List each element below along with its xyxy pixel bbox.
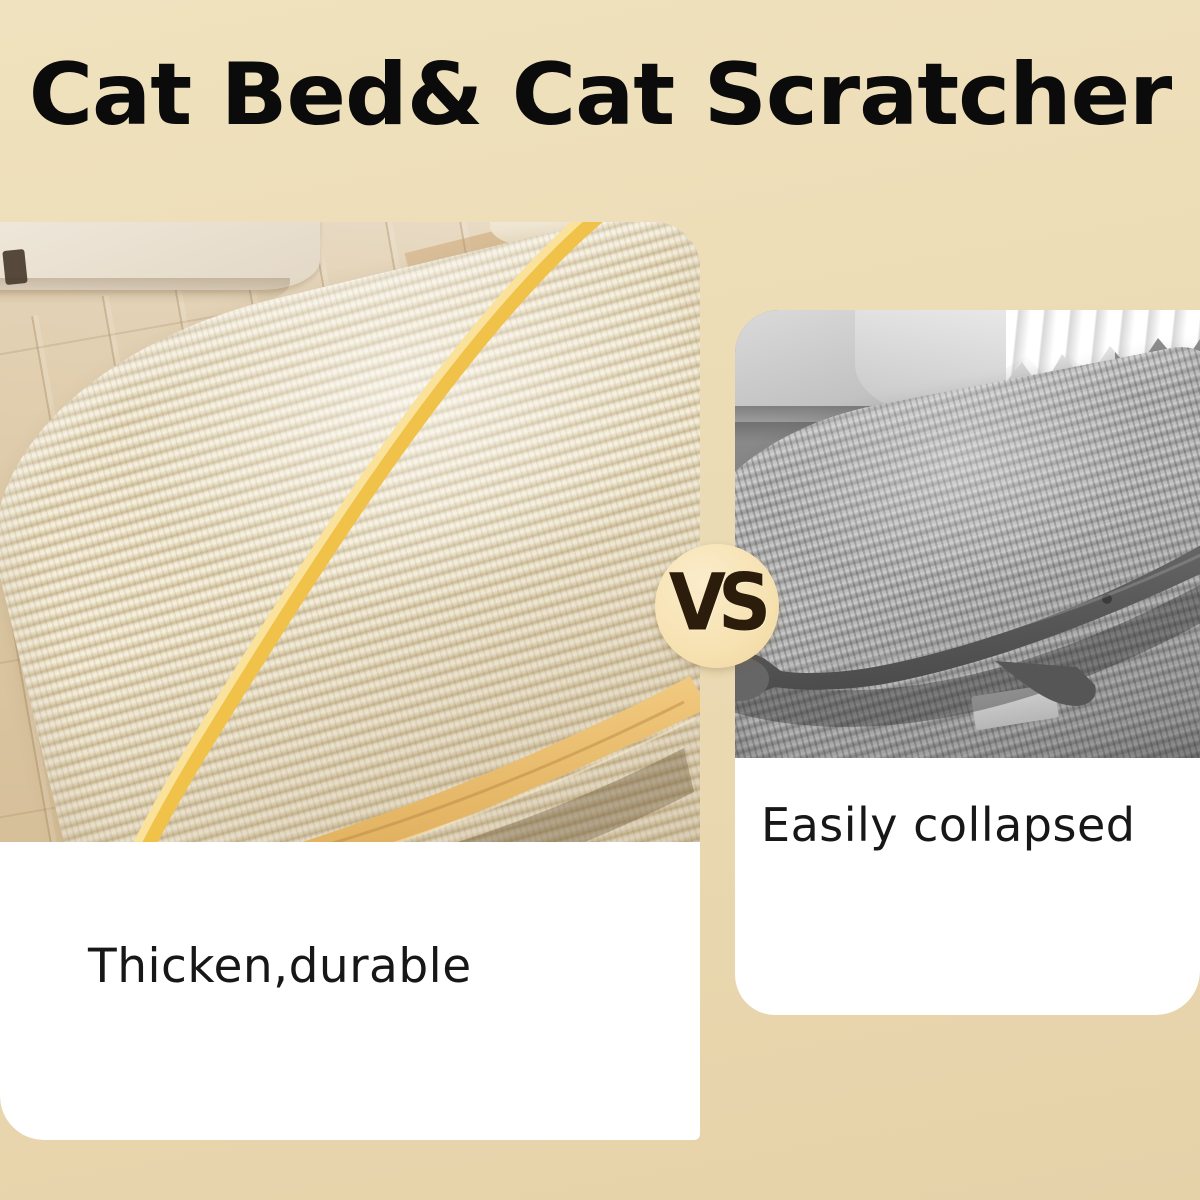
sagging-side-rail <box>735 535 1200 758</box>
versus-badge: VS <box>655 544 779 668</box>
page-title: Cat Bed& Cat Scratcher <box>0 52 1200 138</box>
comparison-panel-left: Thicken,durable <box>0 222 700 1140</box>
caption-text-bad: Easily collapsed <box>761 802 1135 848</box>
comparison-panel-right: Easily collapsed <box>735 310 1200 1015</box>
product-photo-bad <box>735 310 1200 758</box>
product-photo-good <box>0 222 700 842</box>
scene-grey-room <box>735 310 1200 758</box>
versus-label: VS <box>669 564 764 642</box>
scene-wood-room <box>0 222 700 842</box>
caption-text-good: Thicken,durable <box>88 943 472 990</box>
wall-dark-gap <box>2 249 27 285</box>
product-comparison-banner: Cat Bed& Cat Scratcher <box>0 0 1200 1200</box>
wooden-side-rail <box>0 652 700 842</box>
caption-card-bad: Easily collapsed <box>735 758 1200 1015</box>
caption-card-good: Thicken,durable <box>0 842 700 1140</box>
wall-shadow <box>0 278 290 304</box>
